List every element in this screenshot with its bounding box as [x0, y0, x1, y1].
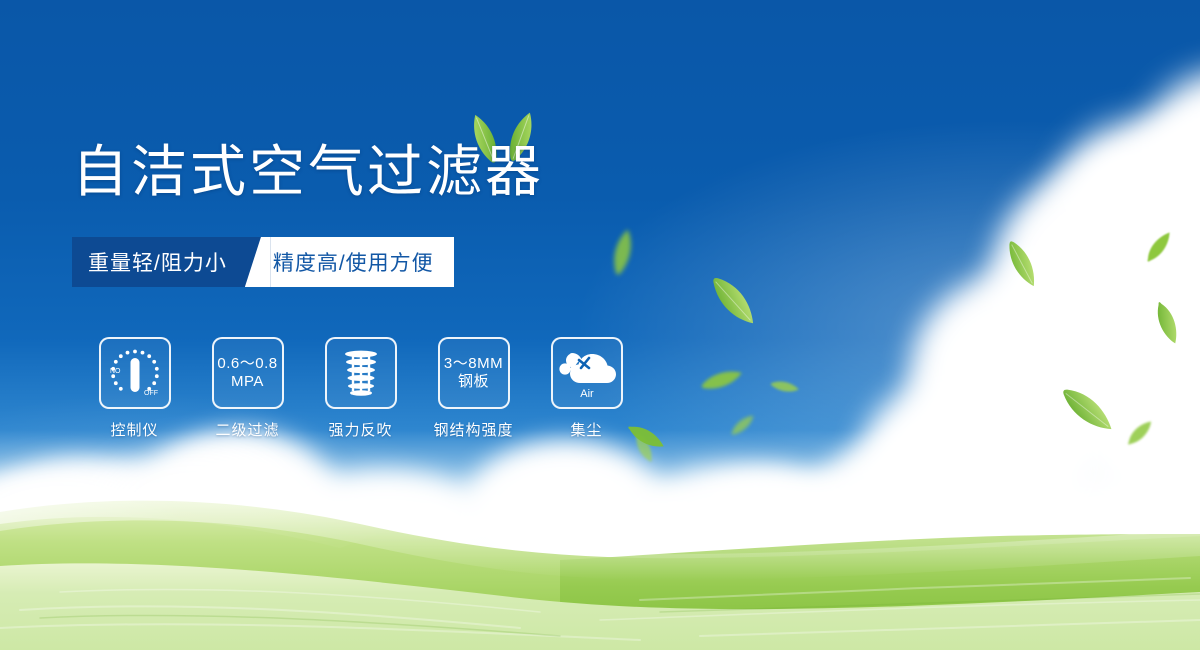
feature-item-blowback[interactable]: 强力反吹 — [304, 337, 417, 440]
gauge-off-label: OFF — [144, 390, 158, 397]
product-banner: 自洁式空气过滤器 重量轻/阻力小 精度高/使用方便 — [0, 0, 1200, 650]
subtitle-right: 精度高/使用方便 — [271, 237, 454, 287]
cloud-air-icon: Air — [556, 344, 618, 402]
feature-item-dust[interactable]: Air 集尘 — [530, 337, 643, 440]
pressure-text-icon: 0.6～0.8 MPA — [217, 355, 277, 391]
feature-icon-box: 0.6～0.8 MPA — [212, 337, 284, 409]
feature-label: 集尘 — [570, 419, 602, 440]
feature-list: NO OFF 控制仪 0.6～0.8 MPA 二级过滤 — [78, 337, 643, 440]
feature-icon-box: 3～8MM 钢板 — [438, 337, 510, 409]
feature-label: 强力反吹 — [328, 419, 392, 440]
steel-line2: 钢板 — [444, 373, 503, 391]
feature-icon-box: Air — [551, 337, 623, 409]
feature-label: 控制仪 — [110, 419, 158, 440]
gauge-dial-icon: NO OFF — [104, 342, 166, 404]
pressure-line1: 0.6～0.8 — [217, 355, 277, 373]
cloud-air-label: Air — [580, 388, 594, 400]
pressure-line2: MPA — [217, 373, 277, 391]
banner-content: 自洁式空气过滤器 重量轻/阻力小 精度高/使用方便 — [0, 0, 1200, 650]
feature-item-controller[interactable]: NO OFF 控制仪 — [78, 337, 191, 440]
feature-item-steel[interactable]: 3～8MM 钢板 钢结构强度 — [417, 337, 530, 440]
feature-icon-box — [325, 337, 397, 409]
subtitle-divider-wedge — [245, 237, 271, 287]
feature-item-pressure[interactable]: 0.6～0.8 MPA 二级过滤 — [191, 337, 304, 440]
subtitle-bar: 重量轻/阻力小 精度高/使用方便 — [72, 237, 454, 287]
feature-label: 二级过滤 — [215, 419, 279, 440]
gauge-on-label: NO — [110, 368, 121, 375]
steel-line1: 3～8MM — [444, 355, 503, 373]
page-title: 自洁式空气过滤器 — [72, 140, 544, 204]
filter-stack-icon — [333, 345, 389, 401]
feature-label: 钢结构强度 — [433, 419, 513, 440]
feature-icon-box: NO OFF — [99, 337, 171, 409]
subtitle-left: 重量轻/阻力小 — [72, 237, 245, 287]
steel-plate-text-icon: 3～8MM 钢板 — [444, 355, 503, 391]
